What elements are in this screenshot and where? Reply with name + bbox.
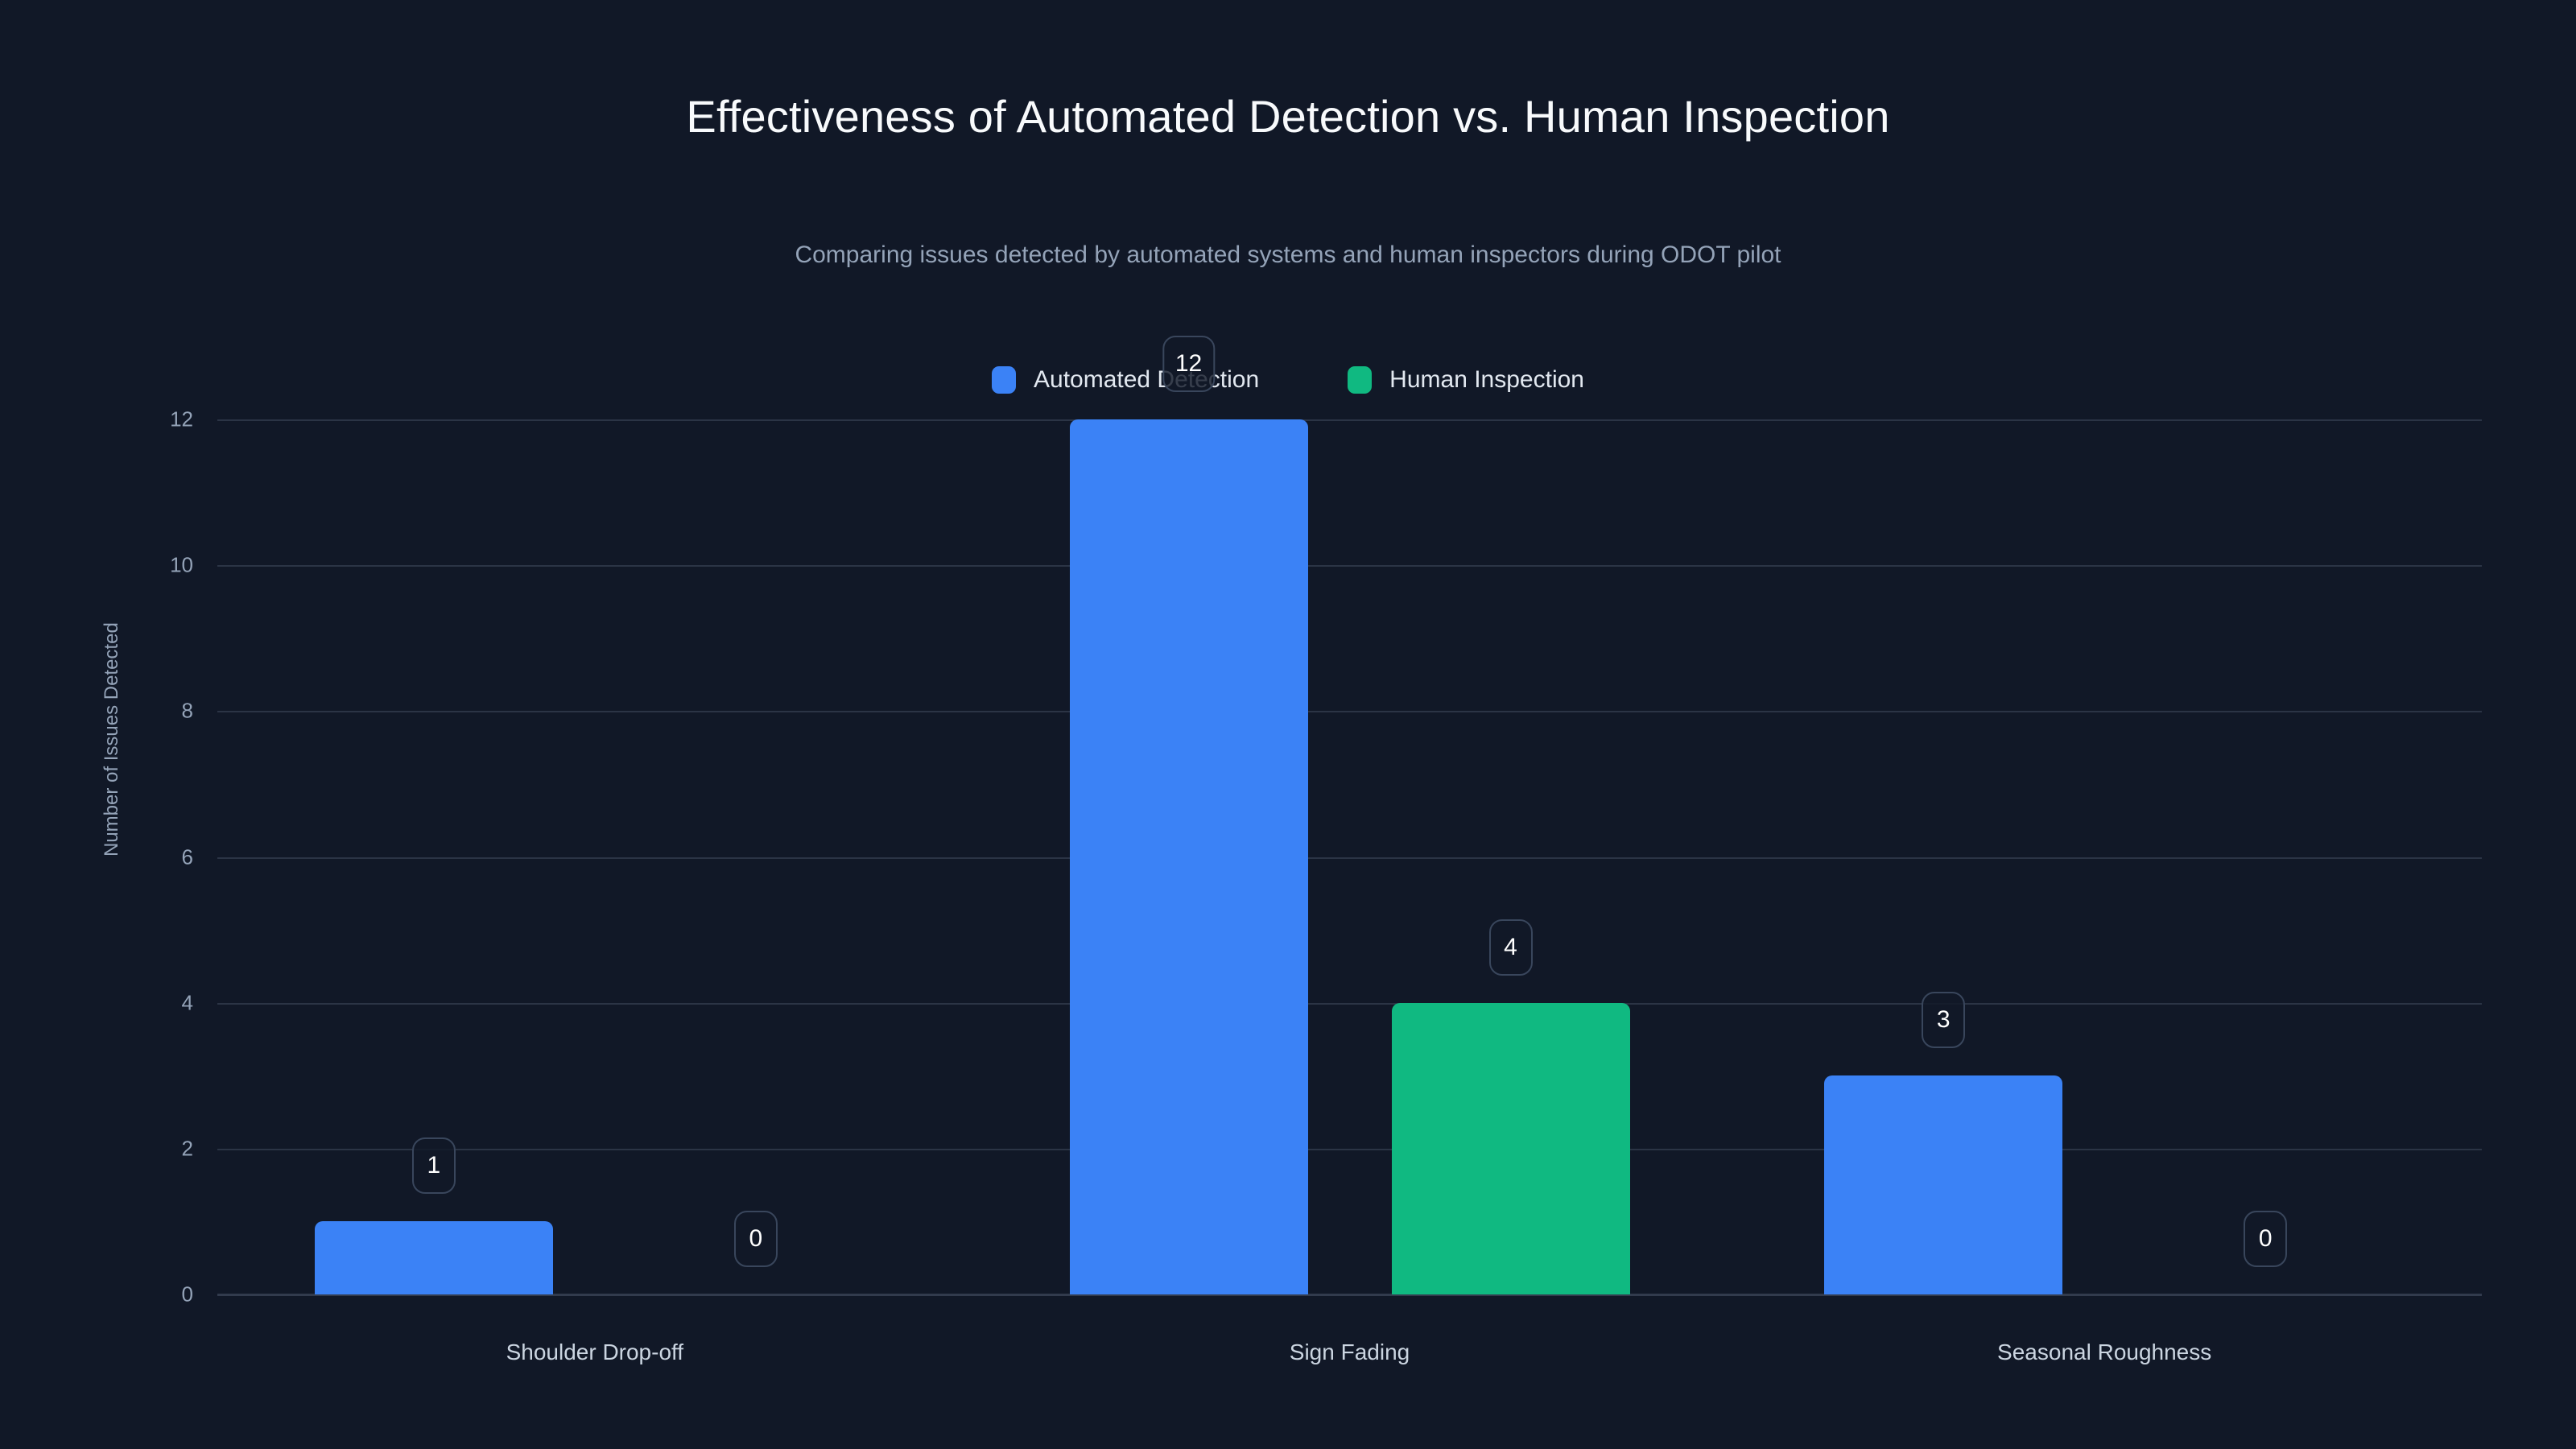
x-axis-tick-label: Seasonal Roughness: [1997, 1340, 2211, 1365]
bar-shoulder-drop-off-automated-detection[interactable]: [315, 1221, 553, 1294]
gridline: [217, 565, 2482, 567]
legend-label: Automated Detection: [1034, 366, 1259, 394]
legend-swatch-icon: [1348, 366, 1372, 394]
gridline: [217, 419, 2482, 421]
bar-value-label: 3: [1922, 992, 1965, 1048]
legend-item-automated-detection[interactable]: Automated Detection: [992, 366, 1259, 394]
gridline: [217, 1149, 2482, 1150]
y-axis-tick-label: 4: [145, 990, 193, 1015]
y-axis-tick-label: 12: [145, 407, 193, 432]
x-axis-tick-label: Shoulder Drop-off: [506, 1340, 684, 1365]
y-axis-tick-label: 2: [145, 1136, 193, 1161]
bar-value-label: 0: [2244, 1211, 2287, 1267]
y-axis-tick-label: 6: [145, 844, 193, 869]
gridline: [217, 857, 2482, 859]
x-axis-baseline: [217, 1294, 2482, 1296]
gridline: [217, 711, 2482, 712]
gridline: [217, 1003, 2482, 1005]
bar-value-label: 1: [412, 1137, 456, 1194]
plot-area: [217, 419, 2482, 1294]
bar-chart-figure: Effectiveness of Automated Detection vs.…: [0, 0, 2576, 1449]
chart-subtitle: Comparing issues detected by automated s…: [0, 242, 2576, 269]
legend-label: Human Inspection: [1389, 366, 1584, 394]
bar-value-label: 0: [734, 1211, 778, 1267]
bar-sign-fading-human-inspection[interactable]: [1392, 1003, 1630, 1294]
legend-item-human-inspection[interactable]: Human Inspection: [1348, 366, 1584, 394]
y-axis-tick-label: 8: [145, 699, 193, 724]
bar-value-label: 12: [1162, 336, 1215, 392]
y-axis-title: Number of Issues Detected: [101, 622, 123, 857]
legend-swatch-icon: [992, 366, 1016, 394]
y-axis-tick-label: 10: [145, 553, 193, 578]
bar-value-label: 4: [1489, 919, 1533, 976]
y-axis-tick-label: 0: [145, 1282, 193, 1307]
bar-seasonal-roughness-automated-detection[interactable]: [1824, 1075, 2062, 1294]
bar-sign-fading-automated-detection[interactable]: [1070, 419, 1308, 1294]
x-axis-tick-label: Sign Fading: [1290, 1340, 1410, 1365]
chart-title: Effectiveness of Automated Detection vs.…: [0, 90, 2576, 142]
chart-legend: Automated DetectionHuman Inspection: [0, 366, 2576, 394]
